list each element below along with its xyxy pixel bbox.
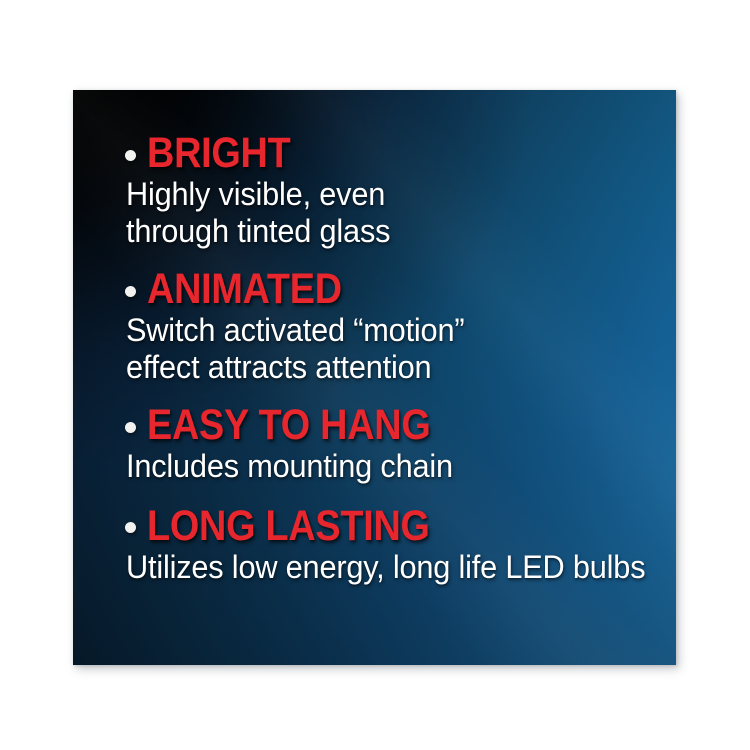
product-feature-panel: BRIGHT Highly visible, even through tint… [73,90,676,665]
feature-description-line: through tinted glass [126,213,654,250]
feature-heading: LONG LASTING [147,505,430,548]
feature-heading-row: EASY TO HANG [125,404,676,447]
feature-heading: EASY TO HANG [147,404,430,447]
feature-description: Utilizes low energy, long life LED bulbs [126,549,676,586]
feature-heading: ANIMATED [147,268,342,311]
feature-description-line: Includes mounting chain [126,448,654,485]
feature-description: Switch activated “motion” effect attract… [126,312,676,386]
bullet-dot-icon [125,150,136,161]
bullet-dot-icon [125,286,136,297]
feature-description-line: Switch activated “motion” [126,312,654,349]
feature-item: EASY TO HANG Includes mounting chain [125,404,676,485]
image-canvas: BRIGHT Highly visible, even through tint… [0,0,750,750]
bullet-dot-icon [125,522,136,533]
feature-description-line: Utilizes low energy, long life LED bulbs [126,549,654,586]
feature-description-line: effect attracts attention [126,349,654,386]
feature-heading-row: LONG LASTING [125,505,676,548]
feature-description: Highly visible, even through tinted glas… [126,176,676,250]
feature-item: BRIGHT Highly visible, even through tint… [125,132,676,250]
feature-heading-row: BRIGHT [125,132,676,175]
feature-item: LONG LASTING Utilizes low energy, long l… [125,505,676,586]
feature-heading: BRIGHT [147,132,290,175]
feature-list: BRIGHT Highly visible, even through tint… [73,90,676,592]
feature-heading-row: ANIMATED [125,268,676,311]
feature-item: ANIMATED Switch activated “motion” effec… [125,268,676,386]
bullet-dot-icon [125,422,136,433]
feature-description-line: Highly visible, even [126,176,654,213]
feature-description: Includes mounting chain [126,448,676,485]
